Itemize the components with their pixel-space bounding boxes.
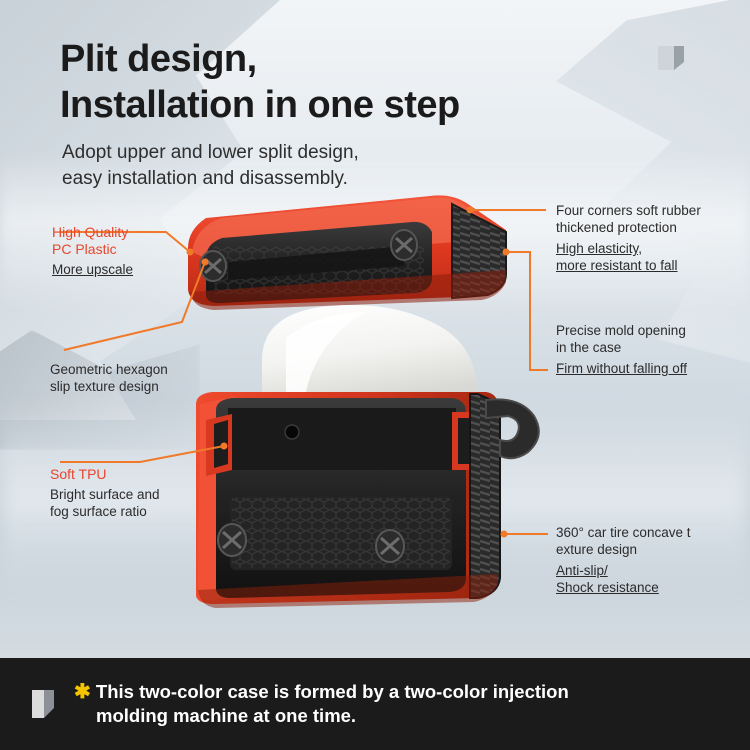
annotation-pc-plastic-detail: More upscale [52, 261, 133, 278]
screw-base-right [376, 530, 404, 562]
annotation-corners: Four corners soft rubber thickened prote… [556, 202, 701, 274]
annotation-corners-line2: thickened protection [556, 219, 701, 236]
annotation-corners-line1: Four corners soft rubber [556, 202, 701, 219]
annotation-soft-tpu-line1: Bright surface and [50, 486, 160, 503]
footer-line2: molding machine at one time. [74, 704, 569, 728]
footer-star-icon: ✱ [74, 681, 91, 703]
annotation-mold-line2: in the case [556, 339, 687, 356]
product-base [196, 305, 539, 608]
screw-lid-right [391, 230, 417, 260]
annotation-hexagon-line2: slip texture design [50, 378, 168, 395]
product-lid [188, 195, 506, 310]
annotation-soft-tpu: Soft TPU Bright surface and fog surface … [50, 466, 160, 520]
annotation-pc-plastic-title1: High Quality [52, 224, 133, 241]
footer-bar: ✱ This two-color case is formed by a two… [0, 658, 750, 750]
annotation-tire: 360° car tire concave t exture design An… [556, 524, 690, 596]
footer-text: ✱ This two-color case is formed by a two… [74, 680, 569, 728]
annotation-tire-detail1: Anti-slip/ [556, 562, 690, 579]
annotation-mold-line1: Precise mold opening [556, 322, 687, 339]
annotation-hexagon-line1: Geometric hexagon [50, 361, 168, 378]
annotation-soft-tpu-line2: fog surface ratio [50, 503, 160, 520]
footer-line1: This two-color case is formed by a two-c… [96, 681, 569, 702]
screw-base-left [218, 524, 246, 556]
annotation-corners-detail1: High elasticity, [556, 240, 701, 257]
annotation-pc-plastic-title2: PC Plastic [52, 241, 133, 258]
flag-icon [30, 689, 56, 719]
annotation-pc-plastic: High Quality PC Plastic More upscale [52, 224, 133, 278]
annotation-tire-detail2: Shock resistance [556, 579, 690, 596]
annotation-mold: Precise mold opening in the case Firm wi… [556, 322, 687, 377]
annotation-corners-detail2: more resistant to fall [556, 257, 701, 274]
annotation-hexagon: Geometric hexagon slip texture design [50, 361, 168, 395]
annotation-tire-line2: exture design [556, 541, 690, 558]
annotation-tire-line1: 360° car tire concave t [556, 524, 690, 541]
annotation-soft-tpu-title: Soft TPU [50, 466, 160, 483]
annotation-mold-detail: Firm without falling off [556, 360, 687, 377]
